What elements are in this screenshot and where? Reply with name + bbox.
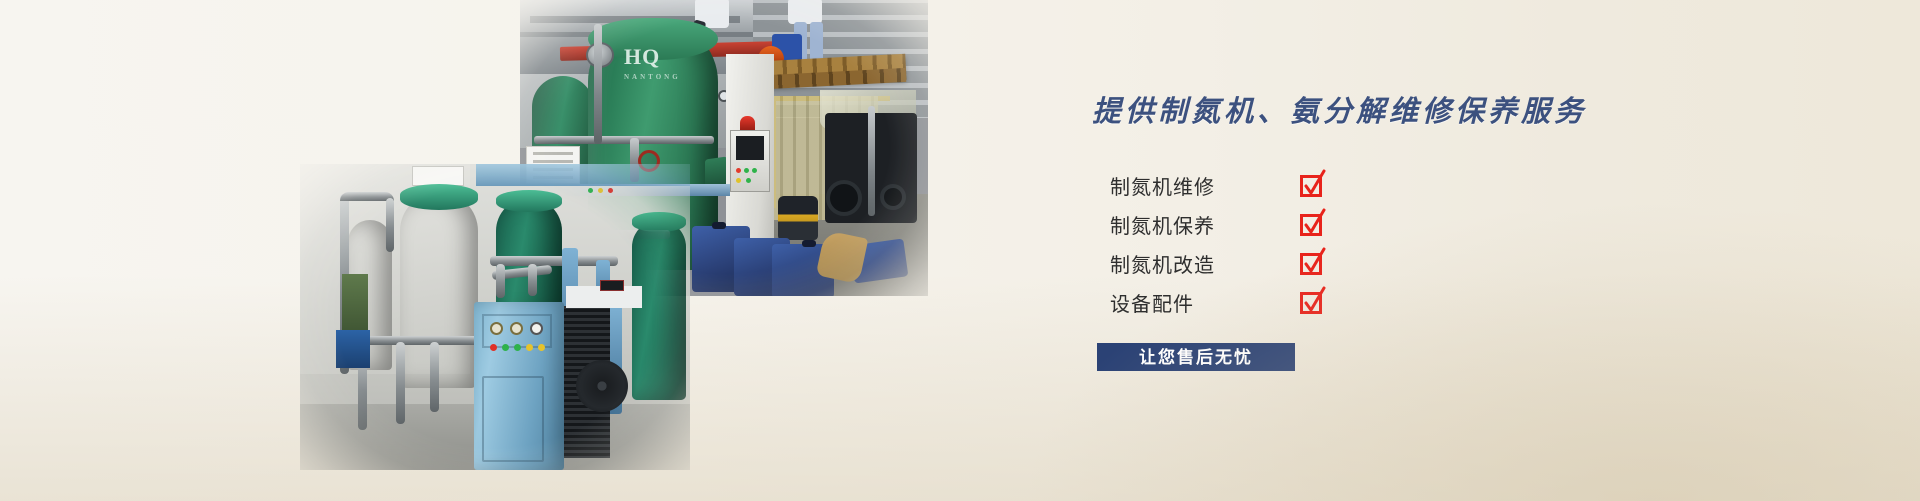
- tank-logo-subtext: NANTONG: [624, 73, 681, 81]
- list-item: 制氮机改造: [1110, 244, 1410, 283]
- adsorber-tower: [632, 220, 686, 400]
- panel-button: [490, 344, 497, 351]
- green-utility-box: [342, 274, 368, 334]
- vertical-pipe: [430, 342, 439, 412]
- blue-base-frame: [336, 330, 370, 368]
- banner-content: 提供制氮机、氨分解维修保养服务 制氮机维修 制氮机保养: [1080, 0, 1640, 501]
- panel-screen: [736, 136, 764, 160]
- checkmark-icon: [1300, 175, 1322, 197]
- drum-cap: [802, 240, 816, 247]
- wall-sign: [412, 166, 464, 186]
- status-lamp: [588, 188, 593, 193]
- cta-button[interactable]: 让您售后无忧: [1097, 343, 1295, 371]
- tower-dome: [632, 212, 686, 232]
- feature-label: 制氮机维修: [1110, 171, 1300, 200]
- manifold-pipe: [356, 336, 484, 345]
- vertical-pipe: [386, 198, 394, 252]
- pressure-gauge: [490, 322, 503, 335]
- vertical-pipe: [396, 342, 405, 424]
- pressure-gauge: [530, 322, 543, 335]
- service-feature-list: 制氮机维修 制氮机保养 制氮机改造: [1110, 166, 1410, 322]
- digital-display: [600, 280, 624, 291]
- list-item: 制氮机保养: [1110, 205, 1410, 244]
- page-title: 提供制氮机、氨分解维修保养服务: [1092, 88, 1587, 130]
- drum-cap: [712, 222, 726, 229]
- horizontal-pipe: [534, 136, 714, 144]
- forklift-wheel: [880, 184, 906, 210]
- indicator-led: [752, 168, 757, 173]
- tank-logo-text: HQ: [624, 44, 660, 69]
- vertical-pipe: [594, 24, 602, 144]
- panel-button: [526, 344, 533, 351]
- cta-button-label: 让您售后无忧: [1139, 349, 1253, 366]
- vertical-pipe: [496, 264, 505, 298]
- photo-scene: [300, 164, 690, 470]
- panel-button: [514, 344, 521, 351]
- feature-label: 设备配件: [1110, 288, 1300, 317]
- indicator-led: [746, 178, 751, 183]
- tank-brand-logo: HQ NANTONG: [624, 44, 681, 81]
- checkmark-icon: [1300, 214, 1322, 236]
- panel-button: [502, 344, 509, 351]
- feature-label: 制氮机保养: [1110, 210, 1300, 239]
- pressure-gauge: [510, 322, 523, 335]
- cooling-fan: [576, 360, 628, 412]
- forklift-wheel: [826, 180, 862, 216]
- vertical-pipe: [528, 264, 537, 296]
- adsorber-tower: [400, 192, 478, 388]
- tower-dome: [496, 190, 562, 212]
- panel-button: [538, 344, 545, 351]
- indicator-led: [744, 168, 749, 173]
- forklift-mast: [868, 106, 875, 216]
- indicator-led: [736, 168, 741, 173]
- blue-beam: [476, 164, 690, 186]
- indicator-led: [736, 178, 741, 183]
- list-item: 制氮机维修: [1110, 166, 1410, 205]
- psa-nitrogen-plant-photo: [300, 164, 690, 470]
- vacuum-cleaner: [778, 196, 818, 240]
- service-banner: HQ NANTONG: [0, 0, 1920, 501]
- status-lamp: [608, 188, 613, 193]
- status-lamp: [598, 188, 603, 193]
- checkmark-icon: [1300, 253, 1322, 275]
- feature-label: 制氮机改造: [1110, 249, 1300, 278]
- checkmark-icon: [1300, 292, 1322, 314]
- cabinet-door: [482, 376, 544, 462]
- tower-dome: [400, 184, 478, 210]
- list-item: 设备配件: [1110, 283, 1410, 322]
